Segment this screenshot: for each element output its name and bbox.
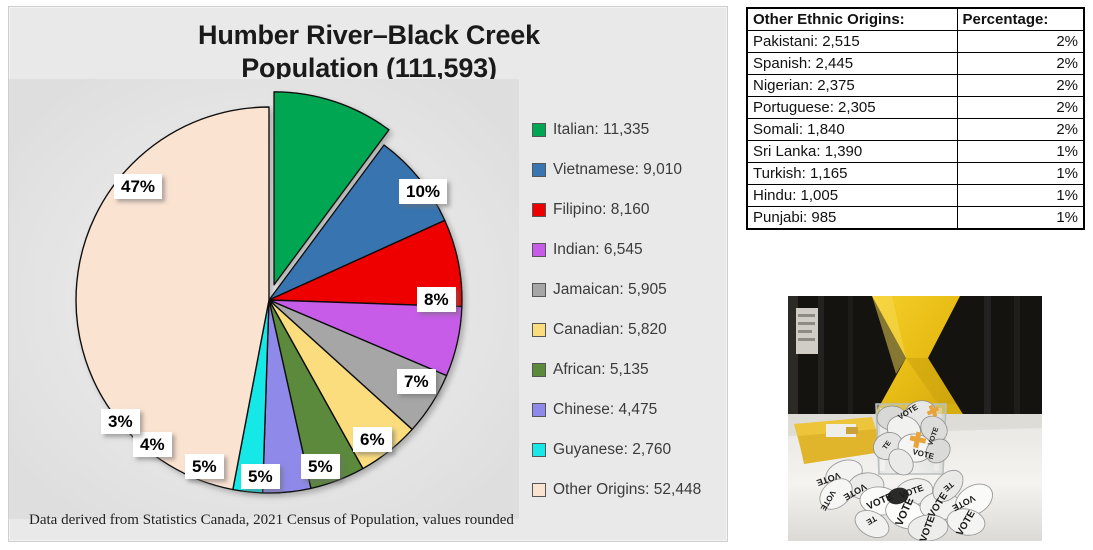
table-row: Nigerian: 2,3752% xyxy=(747,75,1084,97)
legend-item: Indian: 6,545 xyxy=(532,230,732,270)
pie-label-vietnamese: 8% xyxy=(417,287,456,312)
table-cell-origin: Portuguese: 2,305 xyxy=(747,97,957,119)
legend-item: African: 5,135 xyxy=(532,350,732,390)
table-row: Pakistani: 2,5152% xyxy=(747,31,1084,53)
legend-swatch-icon xyxy=(532,123,546,137)
legend-label: Chinese: 4,475 xyxy=(553,401,657,419)
pie-chart-panel: Humber River–Black Creek Population (111… xyxy=(8,6,728,542)
chart-title-line-1: Humber River–Black Creek xyxy=(69,19,669,52)
vote-pins-photo-graphic: VOTE VOTE VOTE TE xyxy=(788,296,1042,541)
vote-pins-photo: VOTE VOTE VOTE TE xyxy=(788,296,1042,541)
table-header-row: Other Ethnic Origins: Percentage: xyxy=(747,8,1084,31)
pie-label-filipino: 7% xyxy=(397,369,436,394)
legend-item: Italian: 11,335 xyxy=(532,110,732,150)
legend-swatch-icon xyxy=(532,163,546,177)
table-row: Hindu: 1,0051% xyxy=(747,185,1084,207)
table-cell-percentage: 2% xyxy=(957,53,1084,75)
legend-swatch-icon xyxy=(532,203,546,217)
legend-item: Filipino: 8,160 xyxy=(532,190,732,230)
legend-label: Guyanese: 2,760 xyxy=(553,441,671,459)
other-ethnic-origins-table: Other Ethnic Origins: Percentage: Pakist… xyxy=(746,7,1085,230)
table-row: Punjabi: 9851% xyxy=(747,207,1084,230)
chart-legend: Italian: 11,335Vietnamese: 9,010Filipino… xyxy=(532,110,732,510)
legend-swatch-icon xyxy=(532,483,546,497)
table-cell-origin: Nigerian: 2,375 xyxy=(747,75,957,97)
table-header-percentage: Percentage: xyxy=(957,8,1084,31)
chart-source-note: Data derived from Statistics Canada, 202… xyxy=(29,512,514,529)
legend-item: Jamaican: 5,905 xyxy=(532,270,732,310)
table-cell-percentage: 1% xyxy=(957,185,1084,207)
pie-label-italian: 10% xyxy=(399,179,447,204)
pie-label-other: 47% xyxy=(114,174,162,199)
table-row: Somali: 1,8402% xyxy=(747,119,1084,141)
table-row: Portuguese: 2,3052% xyxy=(747,97,1084,119)
legend-label: Filipino: 8,160 xyxy=(553,201,650,219)
table-cell-origin: Pakistani: 2,515 xyxy=(747,31,957,53)
table-cell-percentage: 1% xyxy=(957,163,1084,185)
table-cell-origin: Hindu: 1,005 xyxy=(747,185,957,207)
legend-swatch-icon xyxy=(532,323,546,337)
legend-item: Other Origins: 52,448 xyxy=(532,470,732,510)
legend-label: Indian: 6,545 xyxy=(553,241,643,259)
page-title: Humber River–Black Creek Population (111… xyxy=(69,19,669,85)
table-row: Sri Lanka: 1,3901% xyxy=(747,141,1084,163)
legend-swatch-icon xyxy=(532,443,546,457)
legend-label: Italian: 11,335 xyxy=(553,121,649,139)
table-cell-percentage: 2% xyxy=(957,97,1084,119)
legend-item: Guyanese: 2,760 xyxy=(532,430,732,470)
table-cell-percentage: 2% xyxy=(957,31,1084,53)
legend-item: Canadian: 5,820 xyxy=(532,310,732,350)
pie-label-jamaican: 5% xyxy=(301,454,340,479)
table-cell-percentage: 2% xyxy=(957,75,1084,97)
table-cell-origin: Turkish: 1,165 xyxy=(747,163,957,185)
pie-label-african: 5% xyxy=(185,454,224,479)
table-row: Spanish: 2,4452% xyxy=(747,53,1084,75)
legend-label: Other Origins: 52,448 xyxy=(553,481,701,499)
table-cell-percentage: 1% xyxy=(957,141,1084,163)
legend-label: Canadian: 5,820 xyxy=(553,321,667,339)
legend-label: Jamaican: 5,905 xyxy=(553,281,667,299)
legend-swatch-icon xyxy=(532,403,546,417)
pie-chart-graphic: 47% 10% 8% 7% 6% 5% 5% 5% 4% 3% xyxy=(9,79,519,519)
pie-label-indian: 6% xyxy=(353,427,392,452)
table-cell-percentage: 2% xyxy=(957,119,1084,141)
table-cell-origin: Somali: 1,840 xyxy=(747,119,957,141)
legend-label: African: 5,135 xyxy=(553,361,649,379)
legend-swatch-icon xyxy=(532,243,546,257)
pie-label-canadian: 5% xyxy=(241,464,280,489)
legend-label: Vietnamese: 9,010 xyxy=(553,161,682,179)
table-row: Turkish: 1,1651% xyxy=(747,163,1084,185)
legend-item: Chinese: 4,475 xyxy=(532,390,732,430)
table-cell-percentage: 1% xyxy=(957,207,1084,230)
legend-swatch-icon xyxy=(532,363,546,377)
pie-label-chinese: 4% xyxy=(133,432,172,457)
table-cell-origin: Punjabi: 985 xyxy=(747,207,957,230)
legend-swatch-icon xyxy=(532,283,546,297)
table-cell-origin: Sri Lanka: 1,390 xyxy=(747,141,957,163)
legend-item: Vietnamese: 9,010 xyxy=(532,150,732,190)
table-cell-origin: Spanish: 2,445 xyxy=(747,53,957,75)
table-header-origins: Other Ethnic Origins: xyxy=(747,8,957,31)
pie-label-guyanese: 3% xyxy=(101,409,140,434)
